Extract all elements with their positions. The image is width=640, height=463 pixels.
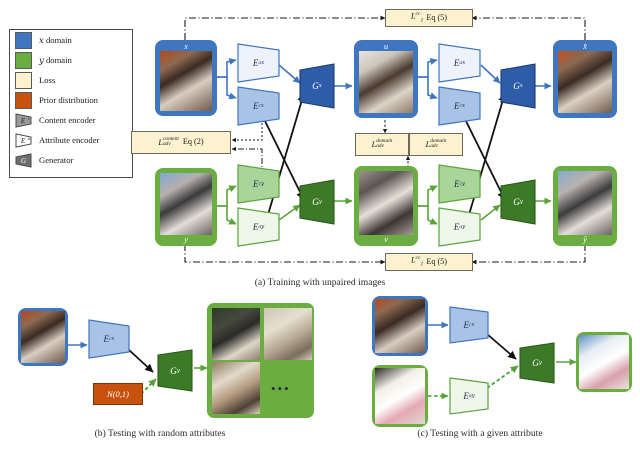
legend-item-content-encoder: E c Content encoder — [15, 110, 132, 130]
legend-item-prior: Prior distribution — [15, 90, 132, 110]
encoder-y-content-2-block[interactable]: Ec𝑦 — [437, 163, 482, 205]
reconstructed-y-image-box: ŷ — [553, 166, 617, 246]
image-label: u — [384, 42, 388, 51]
encoder-x-content-1-block[interactable]: Ec𝑥 — [236, 85, 281, 127]
loss-adv-domain-x-symbol: Ldomainadv — [372, 139, 393, 149]
panel-c-attribute-image-box — [372, 365, 428, 427]
encoder-y-attr-2-block[interactable]: Ea𝑦 — [437, 206, 482, 248]
loss-adv-content-symbol: Lcontentadv — [158, 137, 178, 147]
svg-text:E: E — [20, 117, 26, 125]
image-label: v — [384, 235, 388, 244]
grid-cell-2 — [212, 362, 260, 414]
reconstructed-x-image-box: x̂ — [553, 40, 617, 118]
image-label: x̂ — [583, 42, 587, 51]
legend-label: Loss — [39, 75, 55, 85]
cat-photo — [375, 299, 425, 353]
loss-cc-top-box: Lcc1 Eq (5) — [385, 9, 473, 27]
legend-label: Content encoder — [39, 115, 96, 125]
translated-v-image-box: v — [354, 166, 418, 246]
legend-label: 𝑥 domain — [39, 35, 72, 46]
loss-cc-bottom-box: Lcc1 Eq (5) — [385, 253, 473, 271]
panel-c-caption: (c) Testing with a given attribute — [320, 428, 640, 439]
dog-photo — [558, 171, 612, 235]
legend-item-x-domain: 𝑥 domain — [15, 30, 132, 50]
translated-u-image-box: u — [354, 40, 418, 118]
panel-b-input-image-box — [18, 308, 68, 366]
svg-text:E: E — [20, 137, 26, 145]
content-encoder-icon: E c — [15, 113, 32, 128]
cat-photo — [359, 51, 413, 113]
generator-x-2-block[interactable]: G𝑥 — [499, 62, 537, 110]
input-y-image-box: y — [155, 168, 217, 246]
encoder-y-content-1-block[interactable]: Ec𝑦 — [236, 163, 281, 205]
loss-cc-top-eq: Eq (5) — [426, 14, 447, 22]
panel-b-generator-block[interactable]: G𝑦 — [156, 348, 194, 393]
panel-a-caption: (a) Training with unpaired images — [0, 277, 640, 288]
grid-cell-0 — [212, 308, 260, 360]
generator-y-1-block[interactable]: G𝑦 — [298, 178, 336, 226]
panel-b-caption: (b) Testing with random attributes — [0, 428, 320, 439]
cat-photo — [160, 51, 212, 111]
svg-text:c: c — [28, 116, 30, 121]
grid-ellipsis: ••• — [271, 381, 291, 397]
legend-box: 𝑥 domain 𝑦 domain Loss Prior distributio… — [9, 29, 133, 178]
image-label: ŷ — [583, 235, 587, 244]
legend-label: Attribute encoder — [39, 135, 99, 145]
prior-normal-label: N(0,1) — [107, 389, 129, 399]
dog-photo — [359, 171, 413, 235]
loss-adv-domain-y-symbol: Ldomainadv — [426, 139, 447, 149]
attribute-encoder-icon: E a — [15, 133, 32, 148]
blue-square-swatch-icon — [15, 32, 32, 49]
encoder-y-attr-1-block[interactable]: Ea𝑦 — [236, 206, 281, 248]
panel-c-content-encoder-block[interactable]: Ec𝑥 — [448, 305, 490, 345]
green-square-swatch-icon — [15, 52, 32, 69]
encoder-x-attr-2-block[interactable]: Ea𝑥 — [437, 42, 482, 84]
legend-label: Generator — [39, 155, 73, 165]
generator-y-2-block[interactable]: G𝑦 — [499, 178, 537, 226]
dog-photo — [160, 173, 212, 235]
legend-item-y-domain: 𝑦 domain — [15, 50, 132, 70]
loss-adv-domain-x-box: Ldomainadv — [355, 133, 409, 156]
image-label: y — [184, 235, 188, 244]
panel-c-attribute-encoder-block[interactable]: Ea𝑦 — [448, 376, 490, 416]
panel-b-content-encoder-block[interactable]: Ec𝑥 — [87, 318, 131, 360]
encoder-x-attr-1-block[interactable]: Ea𝑥 — [236, 42, 281, 84]
loss-cc-bottom-eq: Eq (5) — [426, 258, 447, 266]
loss-adv-content-eq: Eq (2) — [183, 138, 204, 146]
grid-cell-1 — [264, 308, 312, 360]
cat-photo — [558, 51, 612, 113]
orange-square-swatch-icon — [15, 92, 32, 109]
loss-cc-top-symbol: Lcc1 — [411, 12, 423, 24]
generated-grid-box: ••• — [207, 303, 314, 418]
legend-item-generator: G Generator — [15, 150, 132, 170]
generator-icon: G — [15, 153, 32, 168]
encoder-x-content-2-block[interactable]: Ec𝑥 — [437, 85, 482, 127]
loss-adv-domain-y-box: Ldomainadv — [409, 133, 463, 156]
cat-photo — [21, 311, 65, 363]
dog-photo — [375, 368, 425, 424]
prior-normal-box: N(0,1) — [93, 383, 143, 405]
legend-label: Prior distribution — [39, 95, 98, 105]
legend-item-loss: Loss — [15, 70, 132, 90]
image-label: x — [184, 42, 188, 51]
generator-x-1-block[interactable]: G𝑥 — [298, 62, 336, 110]
loss-adv-content-box: Lcontentadv Eq (2) — [131, 131, 231, 154]
legend-label: 𝑦 domain — [39, 55, 72, 66]
panel-c-generator-block[interactable]: G𝑦 — [518, 341, 556, 385]
dog-photo — [579, 335, 629, 389]
panel-c-output-image-box — [576, 332, 632, 392]
panel-c-content-image-box — [372, 296, 428, 356]
svg-text:G: G — [21, 157, 26, 165]
loss-cc-bottom-symbol: Lcc1 — [411, 256, 423, 268]
legend-item-attribute-encoder: E a Attribute encoder — [15, 130, 132, 150]
cream-square-swatch-icon — [15, 72, 32, 89]
input-x-image-box: x — [155, 40, 217, 116]
